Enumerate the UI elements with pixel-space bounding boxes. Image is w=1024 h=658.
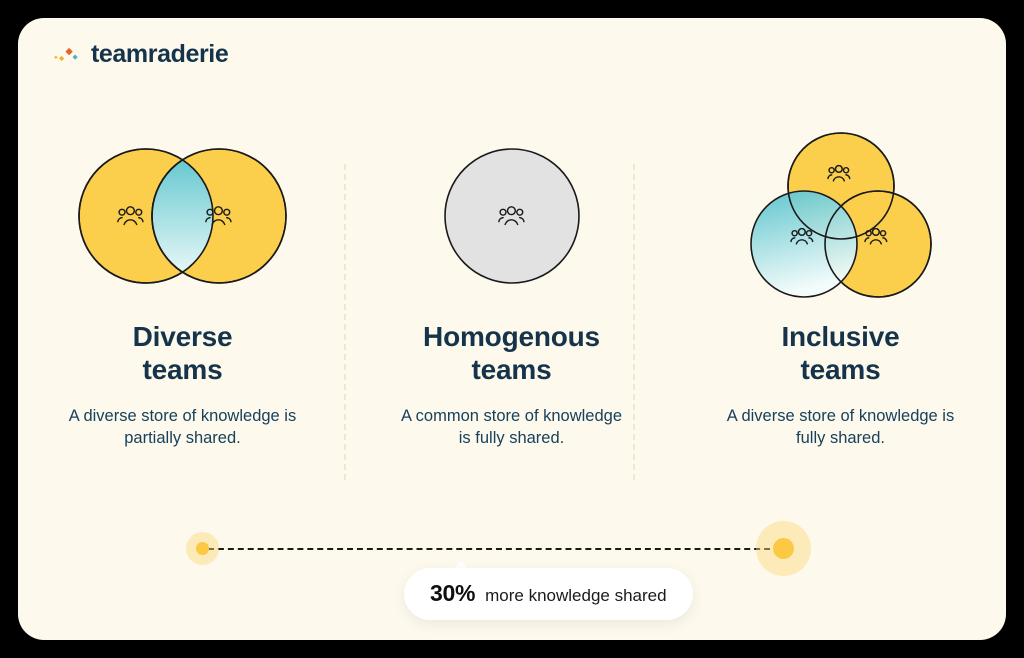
column-title-line2: teams bbox=[143, 354, 223, 385]
column-title: Diverse teams bbox=[133, 320, 233, 387]
teamraderie-mark-icon bbox=[52, 42, 82, 68]
callout-value: 30% bbox=[430, 580, 475, 607]
dashed-connector-line bbox=[208, 548, 780, 550]
column-title-line2: teams bbox=[801, 354, 881, 385]
right-endpoint-dot bbox=[773, 538, 794, 559]
column-inclusive-teams: Inclusive teams A diverse store of knowl… bbox=[676, 126, 1005, 450]
callout-label: more knowledge shared bbox=[485, 586, 666, 606]
brand-name: teamraderie bbox=[91, 40, 228, 69]
comparison-columns: Diverse teams A diverse store of knowled… bbox=[18, 126, 1006, 450]
knowledge-shared-callout: 30% more knowledge shared bbox=[18, 506, 1006, 626]
column-title-line1: Diverse bbox=[133, 321, 233, 352]
callout-badge: 30% more knowledge shared bbox=[404, 568, 693, 620]
column-title: Inclusive teams bbox=[781, 320, 899, 387]
column-title-line1: Homogenous bbox=[423, 321, 600, 352]
infographic-card: teamraderie bbox=[18, 18, 1006, 640]
column-title: Homogenous teams bbox=[423, 320, 600, 387]
screenshot-root: teamraderie bbox=[0, 0, 1024, 658]
single-circle-diagram bbox=[442, 126, 582, 306]
column-diverse-teams: Diverse teams A diverse store of knowled… bbox=[18, 126, 347, 450]
column-homogenous-teams: Homogenous teams A common store of knowl… bbox=[347, 126, 676, 450]
column-title-line2: teams bbox=[472, 354, 552, 385]
venn-three-circle-diagram bbox=[746, 126, 936, 306]
column-title-line1: Inclusive bbox=[781, 321, 899, 352]
column-description: A common store of knowledge is fully sha… bbox=[396, 405, 628, 450]
left-endpoint-dot bbox=[196, 542, 209, 555]
column-description: A diverse store of knowledge is fully sh… bbox=[725, 405, 957, 450]
brand-logo[interactable]: teamraderie bbox=[52, 40, 228, 69]
column-description: A diverse store of knowledge is partiall… bbox=[67, 405, 299, 450]
venn-two-circle-diagram bbox=[75, 126, 290, 306]
